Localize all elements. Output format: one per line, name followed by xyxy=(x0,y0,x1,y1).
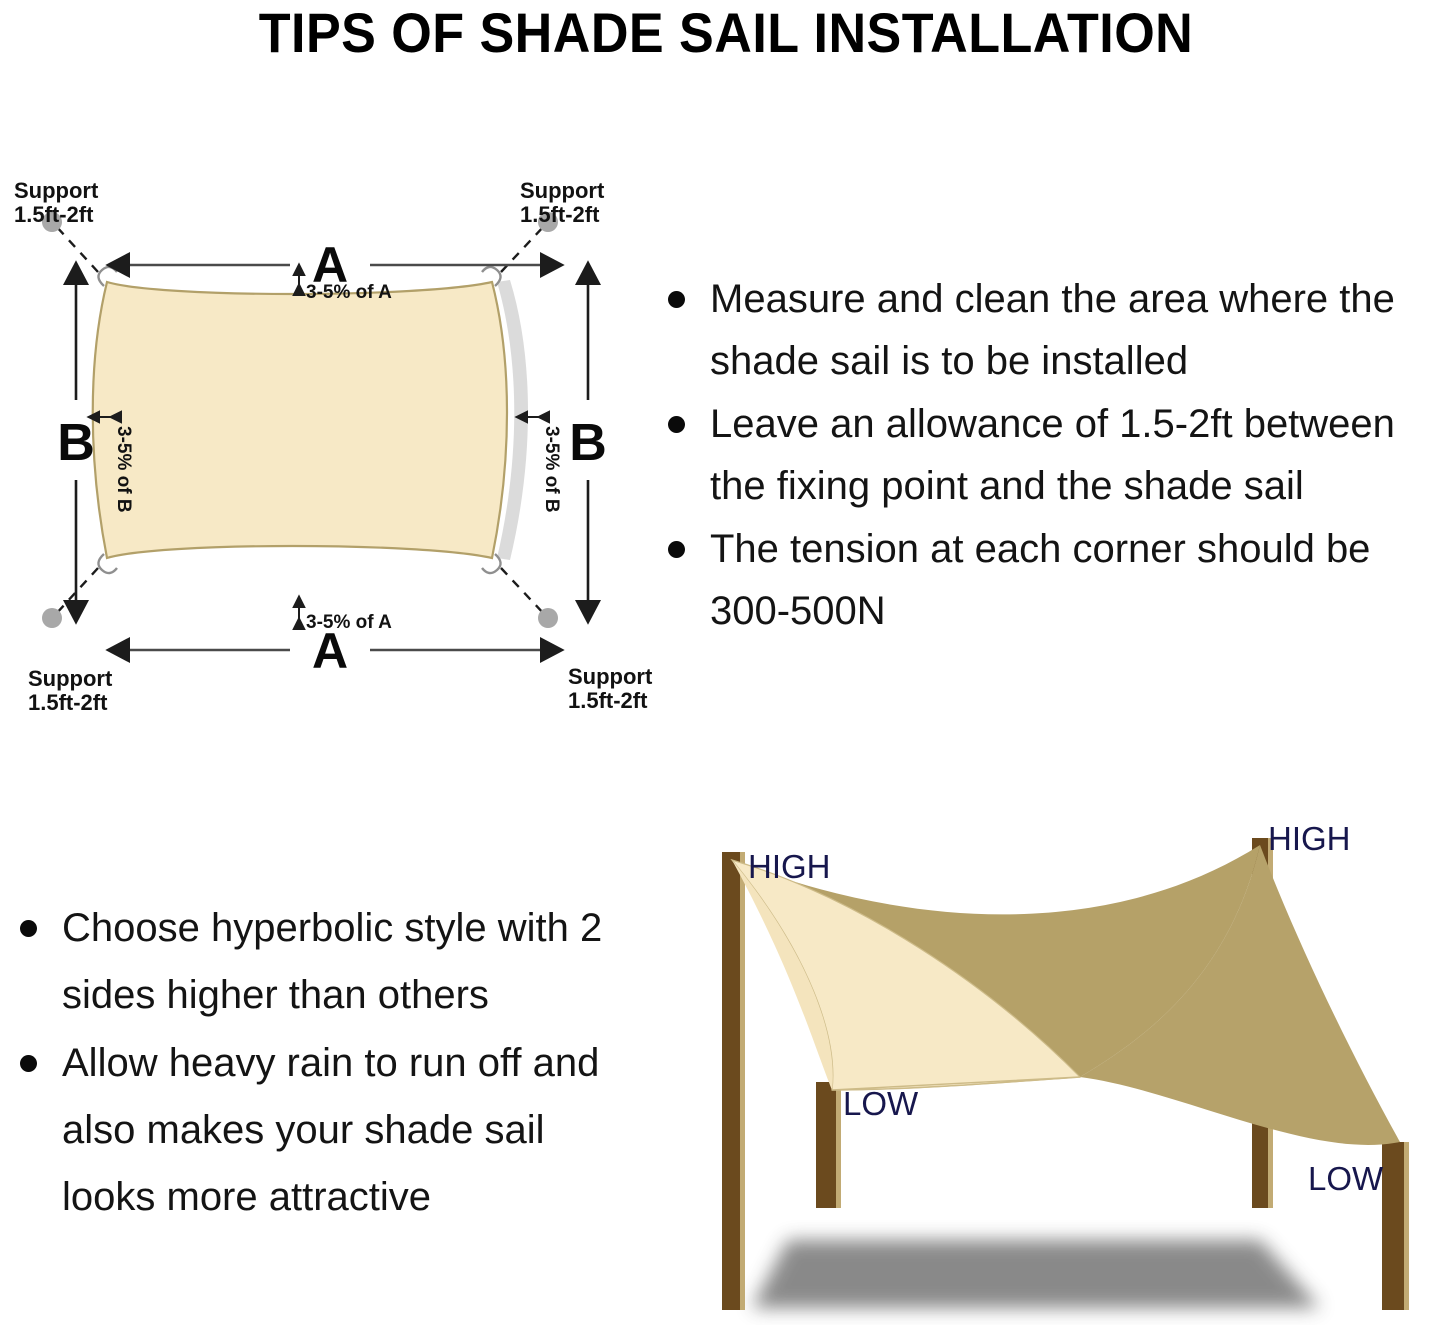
dimension-b-right-label: B xyxy=(569,414,607,472)
tolerance-a-top-label: 3-5% of A xyxy=(306,282,392,303)
label-low-left: LOW xyxy=(843,1085,919,1122)
hyperbolic-sail-diagram: HIGH HIGH LOW LOW xyxy=(660,790,1452,1325)
tolerance-b-right-label: 3-5% of B xyxy=(541,426,562,513)
support-label-bottom-right-line2: 1.5ft-2ft xyxy=(568,688,648,713)
page-title: TIPS OF SHADE SAIL INSTALLATION xyxy=(51,2,1401,64)
rectangular-sail-diagram: Support 1.5ft-2ft Support 1.5ft-2ft Supp… xyxy=(0,160,660,740)
tip-text: The tension at each corner should be 300… xyxy=(710,527,1370,633)
tolerance-a-bottom: 3-5% of A xyxy=(299,608,392,633)
list-item: Choose hyperbolic style with 2 sides hig… xyxy=(0,895,620,1029)
hyperbolic-tips-list: Choose hyperbolic style with 2 sides hig… xyxy=(0,895,620,1231)
support-label-top-left-line2: 1.5ft-2ft xyxy=(14,202,94,227)
list-item: Leave an allowance of 1.5-2ft between th… xyxy=(648,393,1452,517)
label-high-left: HIGH xyxy=(748,848,831,885)
shade-sail-shape xyxy=(93,282,507,558)
label-high-right: HIGH xyxy=(1268,820,1351,857)
tolerance-b-left-label: 3-5% of B xyxy=(113,426,134,513)
support-label-bottom-right-line1: Support xyxy=(568,664,653,689)
installation-tips-list: Measure and clean the area where the sha… xyxy=(648,268,1452,642)
post-low-left xyxy=(816,1082,841,1208)
post-high-left xyxy=(722,852,745,1310)
hyperbolic-tips-panel: Choose hyperbolic style with 2 sides hig… xyxy=(0,895,620,1225)
tip-text: Measure and clean the area where the sha… xyxy=(710,277,1395,383)
support-label-top-right-line2: 1.5ft-2ft xyxy=(520,202,600,227)
dimension-b-left: B xyxy=(57,285,95,600)
label-low-right: LOW xyxy=(1308,1160,1384,1197)
bullet-dot-icon xyxy=(20,920,37,937)
support-dot-bottom-left xyxy=(42,608,62,628)
tip-text: Choose hyperbolic style with 2 sides hig… xyxy=(62,906,602,1017)
support-label-bottom-left-line1: Support xyxy=(28,666,113,691)
list-item: The tension at each corner should be 300… xyxy=(648,518,1452,642)
tolerance-a-bottom-label: 3-5% of A xyxy=(306,612,392,633)
dimension-b-left-label: B xyxy=(57,414,95,472)
list-item: Measure and clean the area where the sha… xyxy=(648,268,1452,392)
support-label-top-right-line1: Support xyxy=(520,178,605,203)
support-dot-bottom-right xyxy=(538,608,558,628)
dimension-b-right: B xyxy=(569,285,607,600)
tolerance-b-right: 3-5% of B xyxy=(528,417,562,513)
bullet-dot-icon xyxy=(668,291,685,308)
list-item: Allow heavy rain to run off and also mak… xyxy=(0,1030,620,1231)
post-low-right xyxy=(1382,1142,1409,1310)
installation-tips-panel: Measure and clean the area where the sha… xyxy=(648,268,1452,668)
ground-shadow xyxy=(752,1240,1320,1308)
bullet-dot-icon xyxy=(668,541,685,558)
tip-text: Allow heavy rain to run off and also mak… xyxy=(62,1041,599,1219)
tip-text: Leave an allowance of 1.5-2ft between th… xyxy=(710,402,1395,508)
bullet-dot-icon xyxy=(668,416,685,433)
support-label-top-left-line1: Support xyxy=(14,178,99,203)
bullet-dot-icon xyxy=(20,1055,37,1072)
support-label-bottom-left-line2: 1.5ft-2ft xyxy=(28,690,108,715)
